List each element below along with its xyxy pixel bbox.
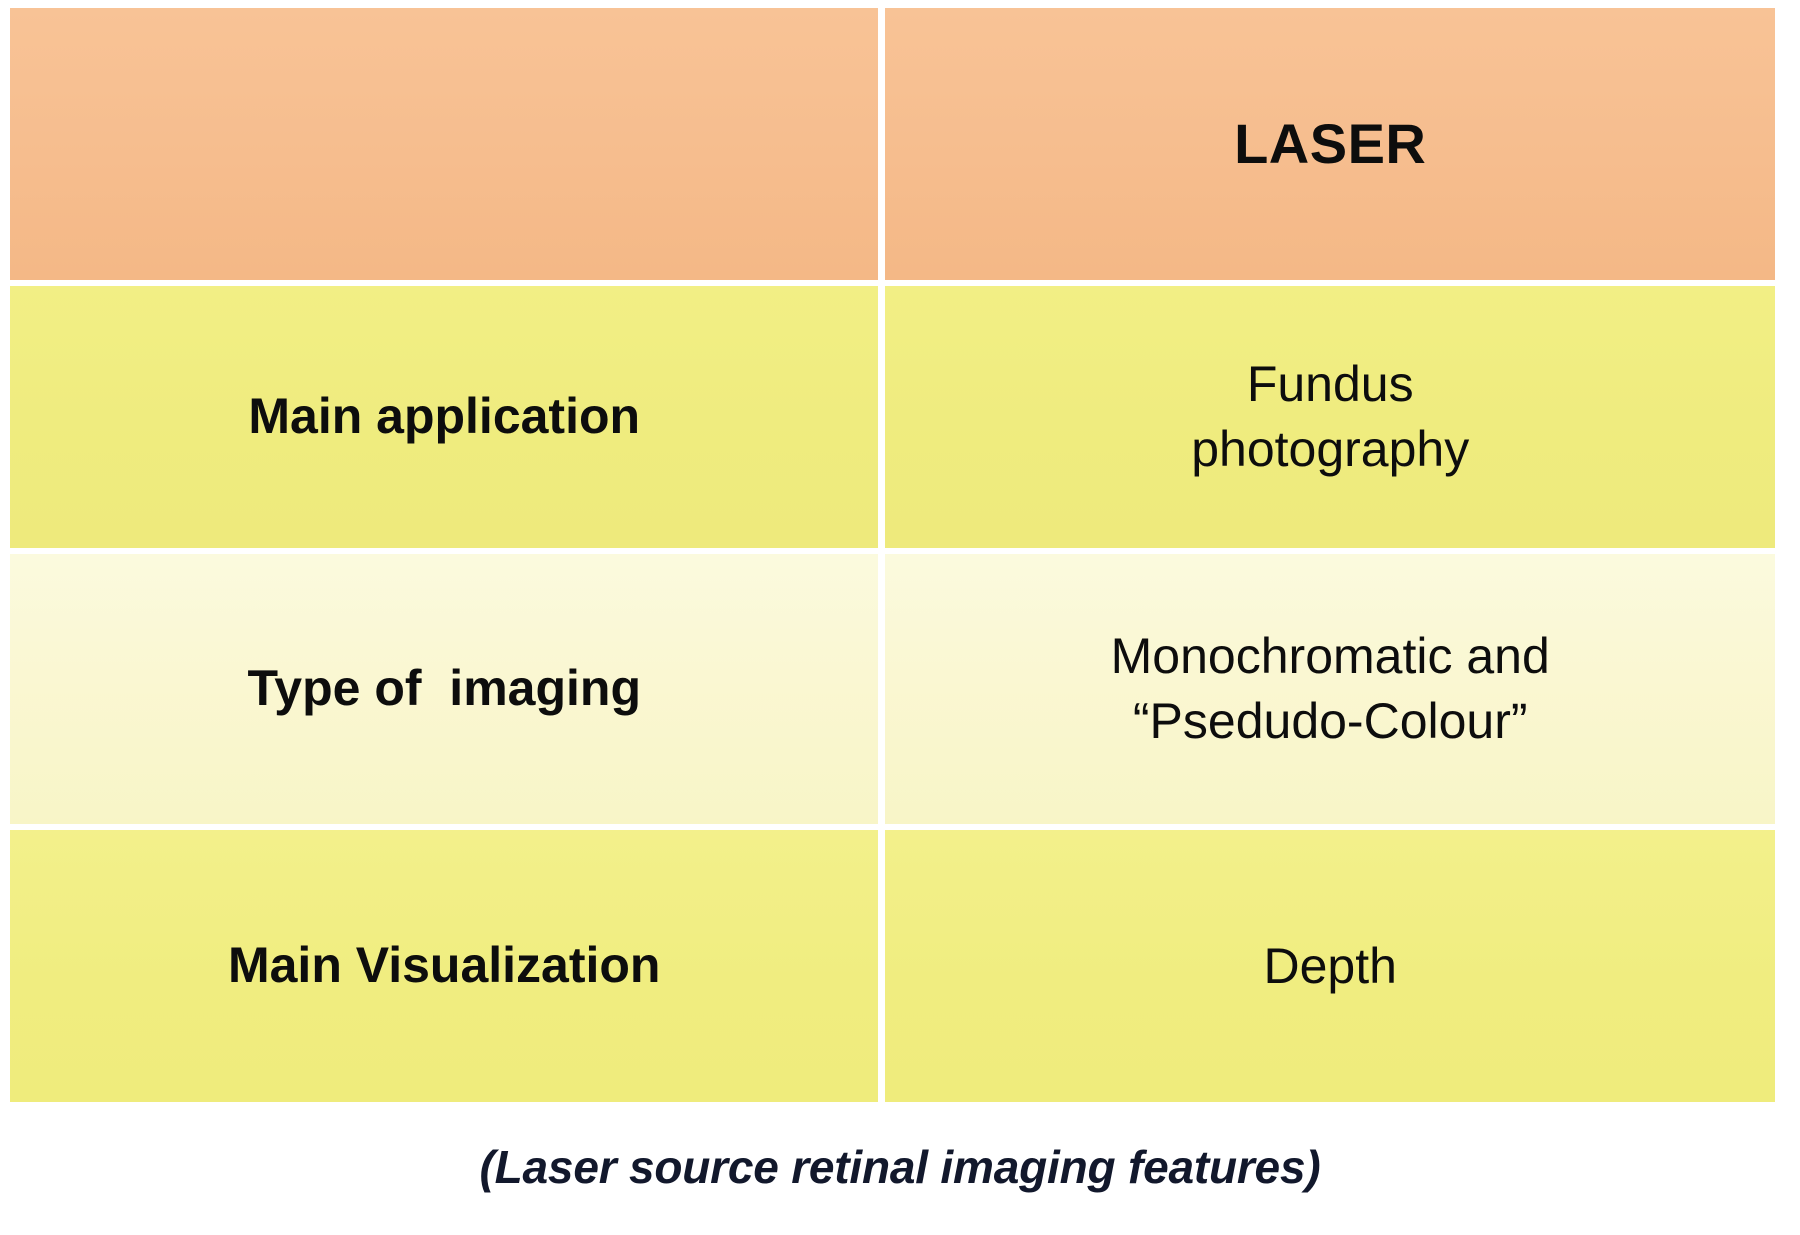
header-laser-label: LASER [885,113,1775,175]
row-value-type-of-imaging: Monochromatic and “Psedudo-Colour” [885,624,1775,754]
row-value-main-application: Fundus photography [885,352,1775,482]
header-cell-laser: LASER [885,8,1775,286]
value-line: “Psedudo-Colour” [885,689,1775,754]
row-value-cell-main-application: Fundus photography [885,286,1775,554]
value-line: Monochromatic and [885,624,1775,689]
row-label-cell-type-of-imaging: Type of imaging [10,554,885,830]
row-label-main-visualization: Main Visualization [10,937,878,995]
row-value-main-visualization: Depth [885,934,1775,999]
row-label-main-application: Main application [10,388,878,446]
table-row: Type of imaging Monochromatic and “Psedu… [10,554,1775,830]
value-line: Fundus [885,352,1775,417]
figure-caption: (Laser source retinal imaging features) [0,1140,1800,1194]
value-line: Depth [885,934,1775,999]
row-label-cell-main-application: Main application [10,286,885,554]
row-value-cell-main-visualization: Depth [885,830,1775,1102]
row-value-cell-type-of-imaging: Monochromatic and “Psedudo-Colour” [885,554,1775,830]
table-header-row: LASER [10,8,1775,286]
row-label-cell-main-visualization: Main Visualization [10,830,885,1102]
laser-imaging-features-table: LASER Main application Fundus photograph… [10,8,1775,1102]
table-row: Main Visualization Depth [10,830,1775,1102]
value-line: photography [885,417,1775,482]
figure-root: LASER Main application Fundus photograph… [0,0,1800,1235]
header-cell-blank [10,8,885,286]
table-row: Main application Fundus photography [10,286,1775,554]
row-label-type-of-imaging: Type of imaging [10,660,878,718]
